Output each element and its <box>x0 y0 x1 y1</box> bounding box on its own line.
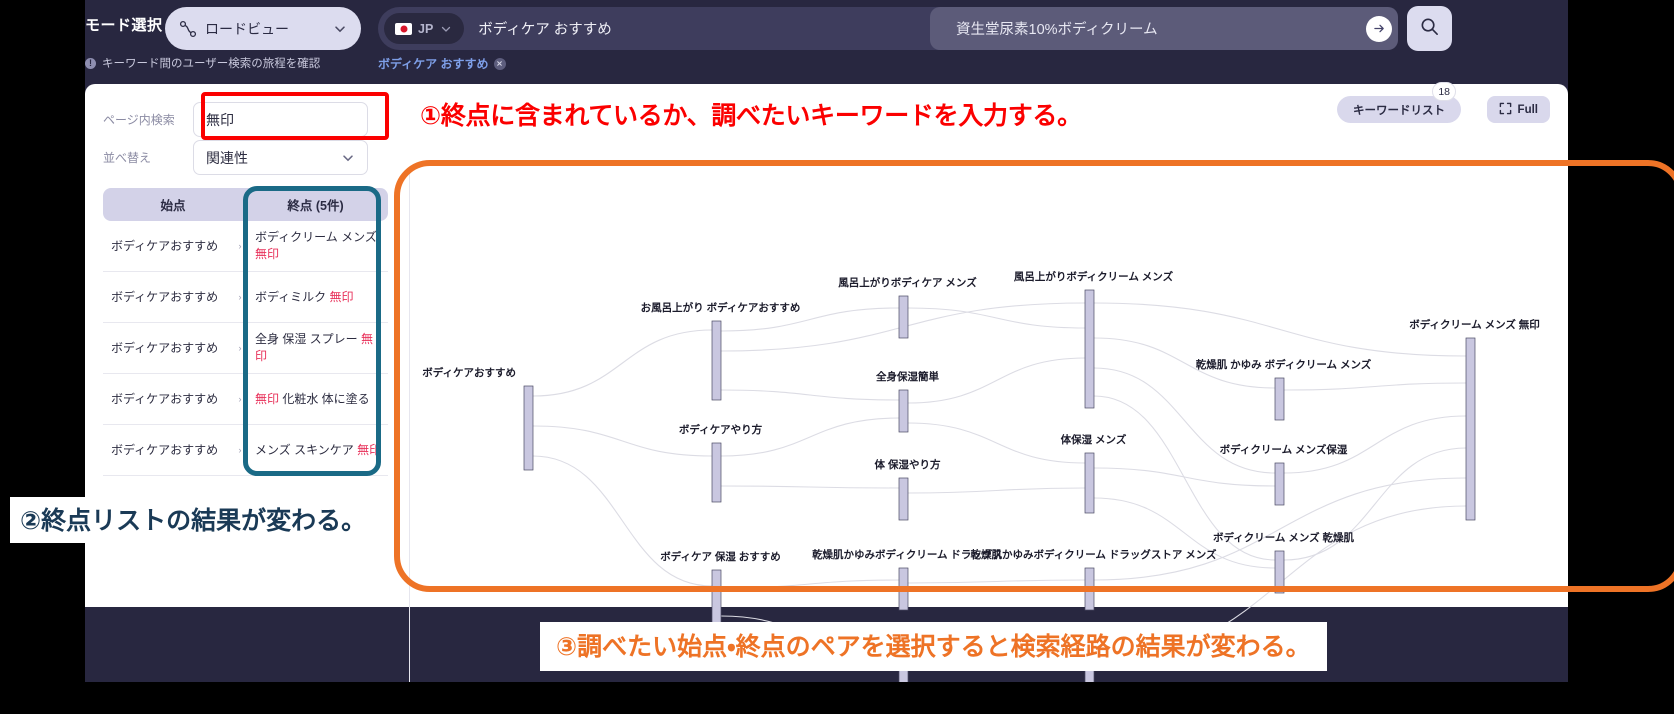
annotation-step3-text: ③調べたい始点・終点のペアを選択すると検索経路の結果が変わる。 <box>540 622 1327 671</box>
sort-row: 並べ替え 関連性 <box>103 140 368 175</box>
cell-start-keyword: ボディケアおすすめ <box>103 289 235 305</box>
keyword-list-badge: 18 <box>1432 82 1456 101</box>
top-bar: モード選択 ロードビュー ! キーワード間のユーザー検索の旅程を確認 JP <box>85 0 1568 84</box>
search-button[interactable] <box>1407 6 1452 51</box>
keyword-list-button-label: キーワードリスト <box>1353 102 1445 118</box>
chevron-down-icon <box>439 22 453 36</box>
chevron-down-icon <box>333 22 347 36</box>
end-keyword-value: 資生堂尿素10%ボディクリーム <box>956 18 1158 39</box>
search-icon <box>1419 16 1440 42</box>
full-screen-button-label: Full <box>1518 104 1538 116</box>
sort-label: 並べ替え <box>103 149 193 166</box>
cell-start-keyword: ボディケアおすすめ <box>103 340 235 356</box>
active-keyword-tag-label: ボディケア おすすめ <box>378 55 489 72</box>
end-keyword-input[interactable]: 資生堂尿素10%ボディクリーム <box>930 7 1398 50</box>
cell-start-keyword: ボディケアおすすめ <box>103 238 235 254</box>
hint-row: ! キーワード間のユーザー検索の旅程を確認 <box>85 55 320 71</box>
road-view-icon <box>179 20 197 38</box>
jp-flag-icon <box>395 23 412 35</box>
annotation-orange-box <box>394 160 1674 592</box>
mode-select-dropdown[interactable]: ロードビュー <box>165 7 361 50</box>
column-header-start: 始点 <box>103 195 243 214</box>
mode-select-value: ロードビュー <box>205 19 333 39</box>
hint-text: キーワード間のユーザー検索の旅程を確認 <box>102 55 320 71</box>
language-code: JP <box>418 22 433 36</box>
mode-select-label: モード選択 <box>85 14 163 35</box>
sort-select[interactable]: 関連性 <box>193 140 368 175</box>
arrow-right-icon[interactable] <box>1366 16 1392 42</box>
cell-start-keyword: ボディケアおすすめ <box>103 391 235 407</box>
page-search-label: ページ内検索 <box>103 111 193 128</box>
info-icon: ! <box>85 58 96 69</box>
expand-icon <box>1499 102 1512 118</box>
active-keyword-tag[interactable]: ボディケア おすすめ <box>378 55 506 72</box>
language-selector[interactable]: JP <box>384 13 464 44</box>
chevron-down-icon <box>341 151 355 165</box>
full-screen-button[interactable]: Full <box>1487 96 1550 123</box>
cell-start-keyword: ボディケアおすすめ <box>103 442 235 458</box>
annotation-teal-box <box>243 186 381 476</box>
sort-select-value: 関連性 <box>206 148 341 168</box>
close-icon[interactable] <box>494 58 506 70</box>
annotation-step1-text: ①終点に含まれているか、調べたいキーワードを入力する。 <box>420 96 1082 132</box>
annotation-red-box <box>201 92 389 140</box>
annotation-step2-text: ②終点リストの結果が変わる。 <box>10 497 376 543</box>
